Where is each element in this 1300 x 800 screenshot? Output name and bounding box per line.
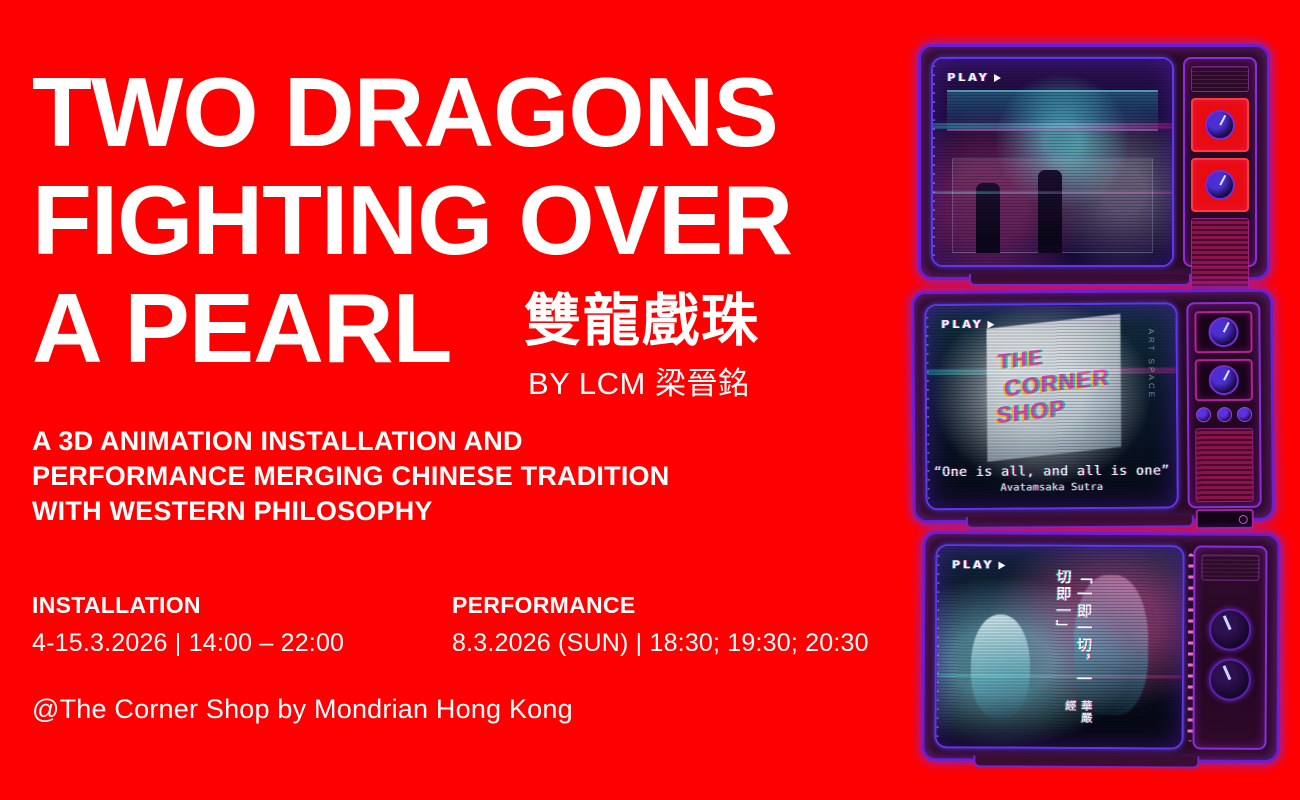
art-space-side-text: ART SPACE [1147,329,1156,401]
tv-bottom-screen: 「一即一切，一切即一」 華嚴經 PLAY [934,544,1184,749]
tv-middle-control-panel [1186,302,1261,509]
artist-byline: BY LCM 梁晉銘 [528,358,749,403]
small-knob[interactable] [1196,407,1211,422]
knob-row [1196,407,1252,422]
chinese-title: 雙龍戲珠 [524,291,760,351]
play-triangle-icon [994,74,1001,82]
indicator-dot-strip [1188,553,1194,741]
tv-bottom-control-panel [1192,545,1267,749]
sutra-source: 華嚴經 [1052,700,1094,725]
play-triangle-icon [988,320,995,328]
installation-dates: 4-15.3.2026 | 14:00 – 22:00 [32,629,344,658]
tv-bottom: 「一即一切，一切即一」 華嚴經 PLAY [921,531,1280,763]
silhouette-figure [976,183,1000,253]
volume-dial-knob[interactable] [1205,170,1235,200]
small-knob[interactable] [1217,407,1232,422]
installation-schedule: INSTALLATION 4-15.3.2026 | 14:00 – 22:00 [32,592,344,658]
tv-middle-screen: THE CORNER SHOP ART SPACE PLAY “One is a… [924,302,1178,510]
cassette-slot [1196,509,1254,529]
vent-grille [1191,66,1249,92]
performance-schedule: PERFORMANCE 8.3.2026 (SUN) | 18:30; 19:3… [452,592,869,658]
volume-dial-knob[interactable] [1209,365,1239,395]
quote-source: Avatamsaka Sutra [928,481,1177,494]
sutra-vertical-text: 「一即一切，一切即一」 華嚴經 [1052,569,1095,725]
play-indicator: PLAY [947,71,1001,84]
description-line-3: WITH WESTERN PHILOSOPHY [32,494,669,529]
play-label: PLAY [947,71,990,84]
headline-line-1: TWO DRAGONS [32,58,792,166]
vent-grille [1201,555,1259,581]
venue-line: @The Corner Shop by Mondrian Hong Kong [32,694,573,725]
dial-window [1195,359,1253,401]
tv-top: PLAY [918,44,1270,280]
tv-middle: THE CORNER SHOP ART SPACE PLAY “One is a… [911,289,1275,524]
knob-cluster [1201,609,1259,701]
play-label: PLAY [952,558,995,571]
tuning-knob[interactable] [1209,659,1251,701]
description-text: A 3D ANIMATION INSTALLATION AND PERFORMA… [32,424,669,529]
slot-indicator-icon [1239,514,1248,523]
play-label: PLAY [941,318,984,331]
billboard-text: THE CORNER SHOP [994,312,1124,452]
description-line-2: PERFORMANCE MERGING CHINESE TRADITION [32,459,669,494]
channel-knob[interactable] [1209,609,1251,651]
speaker-grille [1195,428,1254,502]
performance-dates: 8.3.2026 (SUN) | 18:30; 19:30; 20:30 [452,629,869,658]
play-indicator: PLAY [941,318,995,331]
dial-window [1191,98,1249,152]
description-line-1: A 3D ANIMATION INSTALLATION AND [32,424,669,459]
tv-stack: PLAY THE CORN [900,0,1300,800]
quote-caption: “One is all, and all is one” Avatamsaka … [927,463,1176,494]
silhouette-figure [1038,170,1062,252]
headline-line-2: FIGHTING OVER [32,166,792,274]
sutra-quote: 「一即一切，一切即一」 [1052,569,1095,699]
dial-window [1194,311,1252,353]
quote-text: “One is all, and all is one” [927,463,1176,480]
installation-label: INSTALLATION [32,592,344,619]
street-scene-image [933,59,1172,265]
tuner-dial-knob[interactable] [1208,317,1238,347]
neon-sign-band [947,90,1157,131]
tv-top-control-panel [1183,57,1257,267]
portrait-face [971,614,1030,718]
tv-top-screen: PLAY [931,57,1174,267]
play-indicator: PLAY [952,558,1006,571]
small-knob[interactable] [1237,407,1252,422]
play-triangle-icon [999,561,1006,569]
poster-text-column: TWO DRAGONS FIGHTING OVER A PEARL 雙龍戲珠 B… [0,0,930,800]
performance-label: PERFORMANCE [452,592,869,619]
dial-window [1191,158,1249,212]
tuner-dial-knob[interactable] [1205,110,1235,140]
